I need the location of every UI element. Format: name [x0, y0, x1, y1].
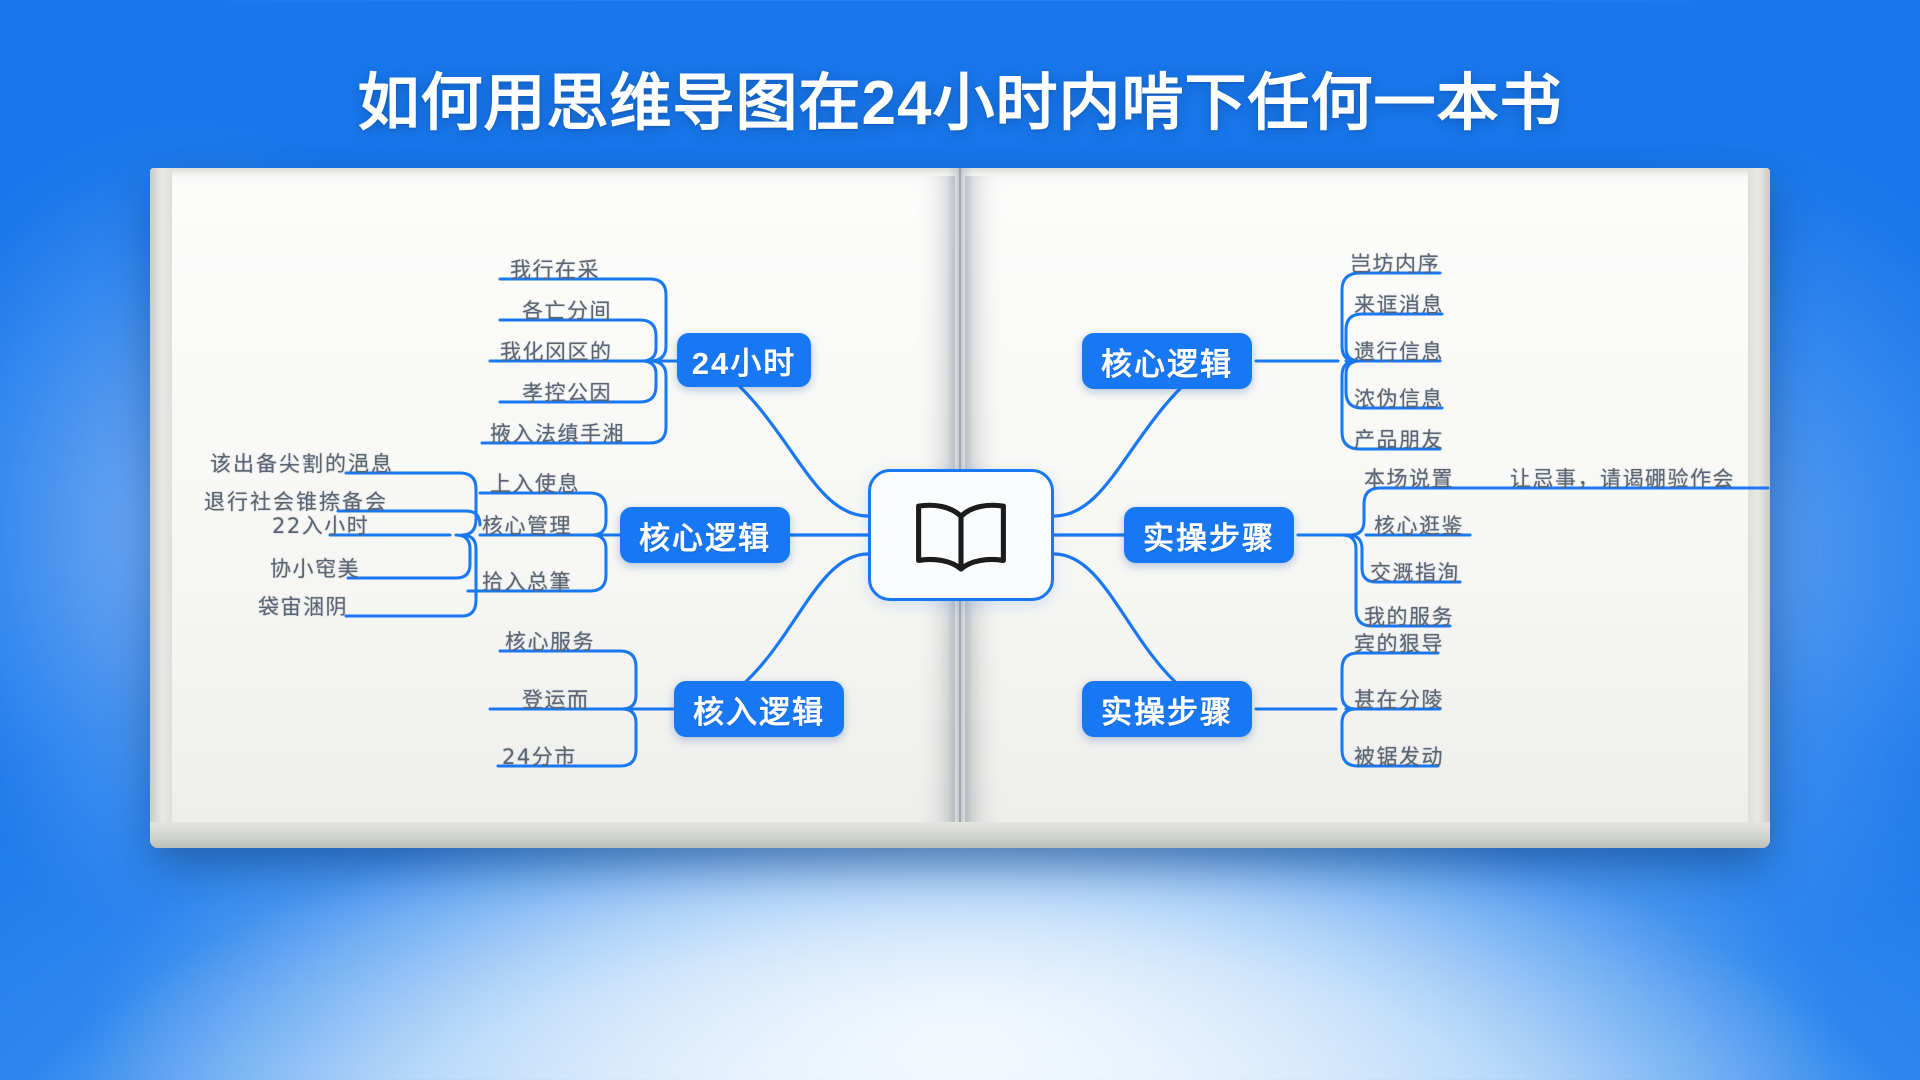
- leaf-right-top-1: 岂坊内序: [1350, 248, 1440, 278]
- leaf-left-top-1: 我行在采: [510, 254, 600, 284]
- leaf-left-top-4: 孝控公因: [522, 377, 612, 407]
- center-node-book-card[interactable]: [868, 469, 1054, 601]
- node-right-top[interactable]: 核心逻辑: [1082, 333, 1252, 389]
- leaf-right-top-5: 产品朋友: [1354, 424, 1444, 454]
- node-left-top[interactable]: 24小时: [677, 333, 811, 387]
- node-right-middle[interactable]: 实操步骤: [1124, 507, 1294, 563]
- leaf-left-bottom-2: 登运而: [522, 684, 590, 714]
- leaf-left-bottom-3: 24分市: [502, 741, 577, 771]
- leaf-right-middle-1: 本场说置: [1364, 463, 1454, 493]
- leaf-left-middle-inner-1: 上入使息: [490, 468, 580, 498]
- leaf-right-middle-note: 让忌事，请谒硼验作会: [1510, 463, 1735, 493]
- book-illustration: 24小时 核心逻辑 核入逻辑 核心逻辑 实操步骤 实操步骤 我行在采 各亡分间 …: [150, 168, 1770, 848]
- leaf-right-top-2: 来诓消息: [1354, 289, 1444, 319]
- leaf-left-middle-outer-3: 22入小时: [272, 510, 369, 540]
- leaf-left-top-5: 掖入法缜手湘: [490, 418, 625, 448]
- leaf-right-middle-3: 交溉指洵: [1370, 557, 1460, 587]
- leaf-left-middle-outer-4: 协小窀美: [270, 553, 360, 583]
- leaf-left-bottom-1: 核心服务: [505, 626, 595, 656]
- open-book-icon: [909, 496, 1013, 574]
- leaf-right-middle-2: 核心逛鉴: [1374, 510, 1464, 540]
- leaf-left-middle-inner-3: 拾入总筆: [482, 566, 572, 596]
- leaf-right-top-3: 遗行信息: [1354, 336, 1444, 366]
- leaf-left-middle-inner-2: 核心管理: [482, 510, 572, 540]
- node-right-bottom[interactable]: 实操步骤: [1082, 681, 1252, 737]
- page-title: 如何用思维导图在24小时内啃下任何一本书: [0, 52, 1920, 142]
- open-book: 24小时 核心逻辑 核入逻辑 核心逻辑 实操步骤 实操步骤 我行在采 各亡分间 …: [150, 168, 1770, 848]
- leaf-right-bottom-3: 被锯发动: [1354, 741, 1444, 771]
- leaf-right-middle-4: 我的服务: [1364, 601, 1454, 631]
- leaf-right-bottom-2: 甚在分陵: [1354, 684, 1444, 714]
- node-left-bottom[interactable]: 核入逻辑: [674, 681, 844, 737]
- node-left-middle[interactable]: 核心逻辑: [620, 507, 790, 563]
- leaf-left-top-2: 各亡分间: [522, 295, 612, 325]
- leaf-right-bottom-1: 宾的狠导: [1354, 628, 1444, 658]
- leaf-left-middle-outer-5: 袋宙涃阴: [258, 591, 348, 621]
- leaf-left-top-3: 我化冈区的: [500, 336, 613, 366]
- leaf-left-middle-outer-1: 该出备尖割的浥息: [210, 448, 394, 478]
- leaf-right-top-4: 浓伪信息: [1354, 383, 1444, 413]
